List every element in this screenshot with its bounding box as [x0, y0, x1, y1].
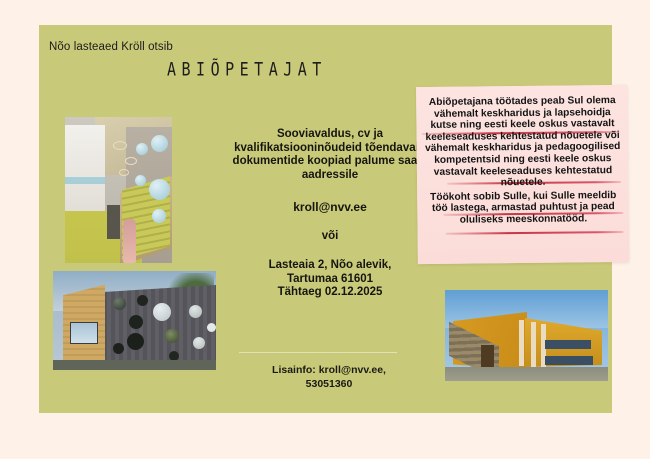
requirements-paragraph-2: Töökoht sobib Sulle, kui Sulle meeldib t…	[423, 190, 623, 227]
address-line-2: Tartumaa 61601	[214, 273, 446, 287]
requirements-paragraph-1: Abiõpetajana töötades peab Sul olema väh…	[422, 95, 623, 190]
footer-contact-info: Lisainfo: kroll@nvv.ee, 53051360	[209, 363, 449, 391]
address-line-1: Lasteaia 2, Nõo alevik,	[214, 259, 446, 273]
email-address[interactable]: kroll@nvv.ee	[214, 200, 446, 214]
poster-kicker: Nõo lasteaed Kröll otsib	[49, 41, 173, 53]
divider-line	[239, 352, 397, 353]
requirements-text: Abiõpetajana töötades peab Sul olema väh…	[422, 95, 623, 227]
footer-info-line-1[interactable]: Lisainfo: kroll@nvv.ee,	[209, 363, 449, 377]
footer-info-line-2: 53051360	[209, 377, 449, 391]
kindergarten-interior-photo	[65, 117, 172, 263]
requirements-sticky-note: Abiõpetajana töötades peab Sul olema väh…	[416, 85, 629, 264]
contact-text-block: Sooviavaldus, cv ja kvalifikatsiooninõud…	[214, 128, 446, 300]
deadline-text: Tähtaeg 02.12.2025	[214, 286, 446, 300]
yellow-building-photo	[445, 290, 608, 381]
building-facade-photo	[53, 271, 216, 370]
page-title: ABIÕPETAJAT	[167, 58, 327, 81]
or-separator: või	[214, 230, 446, 242]
application-instruction: Sooviavaldus, cv ja kvalifikatsiooninõud…	[214, 128, 446, 182]
